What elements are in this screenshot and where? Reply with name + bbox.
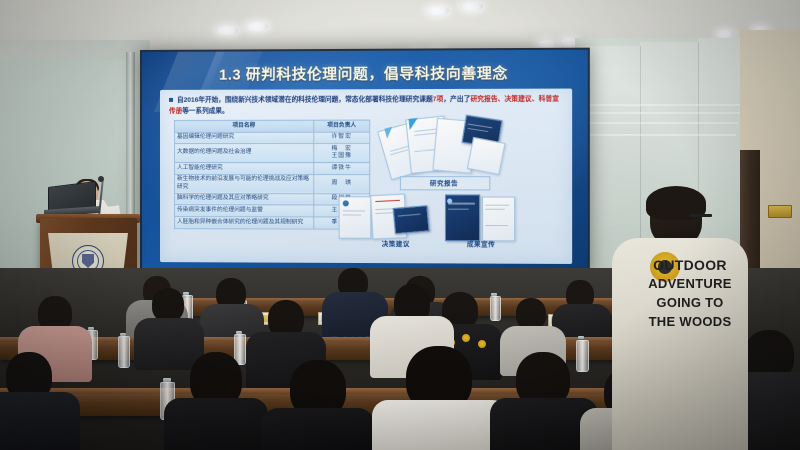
table-row: 人工智能伦理研究谭铁牛 bbox=[175, 163, 370, 175]
bullet-highlight-count: 7项 bbox=[433, 96, 444, 103]
shirt-graphic-icon bbox=[478, 340, 486, 348]
policy-doc-seal-icon bbox=[343, 200, 349, 206]
brochure-line bbox=[485, 209, 505, 210]
bottle-cap bbox=[163, 378, 171, 382]
audience-head bbox=[152, 288, 184, 322]
tshirt-line-2: ADVENTURE bbox=[636, 277, 744, 291]
glass-reflection-stripe bbox=[580, 104, 740, 106]
slide-content-panel: 自2016年开始，围绕新兴技术领域潜在的科技伦理问题，常态化部署科技伦理研究课题… bbox=[160, 89, 572, 264]
bottle-cap bbox=[183, 292, 189, 295]
cell-project-name: 脑科学的伦理问题及其应对策略研究 bbox=[175, 193, 314, 205]
downlight-icon bbox=[246, 22, 268, 31]
table-row: 大数据的伦理问题及社会治理梅 宏 王国豫 bbox=[175, 143, 370, 162]
policy-line bbox=[343, 210, 365, 211]
outreach-caption: 成果宣传 bbox=[445, 239, 517, 248]
cell-project-name: 传染病突发事件的伦理问题与监管 bbox=[175, 205, 314, 217]
cell-project-name: 基因编辑伦理问题研究 bbox=[175, 132, 314, 144]
tshirt-line-4: THE WOODS bbox=[636, 315, 744, 329]
journal-emblem-icon bbox=[447, 199, 452, 204]
eyeglasses-icon bbox=[690, 214, 712, 217]
audience-torso-foreground bbox=[372, 400, 508, 450]
slide-title: 1.3 研判科技伦理问题，倡导科技向善理念 bbox=[142, 62, 588, 85]
cell-project-name: 大数据的伦理问题及社会治理 bbox=[175, 144, 314, 163]
conference-room-photo: 1.3 研判科技伦理问题，倡导科技向善理念 自2016年开始，围绕新兴技术领域潜… bbox=[0, 0, 800, 450]
journal-title-line bbox=[448, 203, 475, 205]
shirt-graphic-icon bbox=[462, 334, 470, 342]
bottle-cap bbox=[491, 293, 497, 296]
cell-project-name: 人胚胎和异种嵌合体研究的伦理问题及其规制研究 bbox=[175, 217, 314, 229]
tshirt-line-3: GOING TO bbox=[636, 296, 744, 310]
bullet-text-part3: 等一系列成果。 bbox=[182, 107, 228, 114]
brochure-line bbox=[485, 225, 508, 226]
projection-screen: 1.3 研判科技伦理问题，倡导科技向善理念 自2016年开始，围绕新兴技术领域潜… bbox=[140, 48, 590, 279]
cell-project-name: 新生物技术的前沿发展与可能的伦理挑战及应对策略研究 bbox=[175, 174, 314, 193]
microphone-icon bbox=[98, 176, 104, 182]
cell-project-lead: 周 琪 bbox=[314, 174, 370, 193]
glass-reflection-stripe bbox=[580, 112, 740, 114]
glass-reflection-stripe bbox=[582, 134, 736, 136]
table-row: 新生物技术的前沿发展与可能的伦理挑战及应对策略研究周 琪 bbox=[175, 174, 370, 193]
brochure-line bbox=[485, 205, 509, 206]
col-header-lead: 项目负责人 bbox=[314, 120, 370, 132]
policy-caption: 决策建议 bbox=[355, 239, 437, 248]
slide-illustration: 研究报告 决策建议 bbox=[377, 111, 564, 256]
cell-project-name: 人工智能伦理研究 bbox=[175, 163, 314, 175]
policy-line bbox=[343, 214, 361, 215]
cell-project-lead: 许智宏 bbox=[314, 132, 370, 144]
table-header-row: 项目名称 项目负责人 bbox=[175, 120, 370, 132]
water-bottle[interactable] bbox=[576, 340, 589, 372]
downlight-icon bbox=[716, 30, 734, 38]
report-corner-accent-icon bbox=[409, 118, 419, 130]
downlight-icon bbox=[460, 2, 483, 11]
bottle-cap bbox=[88, 327, 94, 330]
policy-dark-doc bbox=[393, 205, 430, 234]
bottle-cap bbox=[236, 331, 242, 334]
water-bottle[interactable] bbox=[118, 336, 130, 368]
report-page bbox=[467, 137, 506, 175]
bullet-text-part1: 自2016年开始，围绕新兴技术领域潜在的科技伦理问题，常态化部署科技伦理研究课题 bbox=[177, 96, 433, 104]
col-header-project: 项目名称 bbox=[175, 120, 314, 132]
bottle-cap bbox=[120, 333, 126, 336]
cell-project-lead: 谭铁牛 bbox=[314, 163, 370, 175]
bullet-text-part2: ，产出了 bbox=[443, 96, 470, 103]
journal-sub-line bbox=[448, 209, 469, 210]
water-bottle[interactable] bbox=[490, 296, 501, 321]
door-plaque bbox=[768, 205, 792, 218]
table-row: 基因编辑伦理问题研究许智宏 bbox=[175, 132, 370, 144]
downlight-icon bbox=[216, 26, 238, 35]
bottle-cap bbox=[578, 336, 584, 339]
audience-torso bbox=[262, 408, 374, 450]
audience-torso bbox=[164, 398, 268, 450]
cell-project-lead: 梅 宏 王国豫 bbox=[314, 143, 370, 162]
tshirt-line-1: OUTDOOR bbox=[640, 258, 740, 273]
glass-reflection-stripe bbox=[580, 122, 738, 124]
audience-torso bbox=[0, 392, 80, 450]
reports-caption: 研究报告 bbox=[400, 178, 488, 187]
downlight-icon bbox=[538, 40, 557, 48]
downlight-icon bbox=[426, 6, 449, 15]
bullet-square-icon bbox=[169, 98, 173, 102]
brochure bbox=[482, 197, 515, 242]
